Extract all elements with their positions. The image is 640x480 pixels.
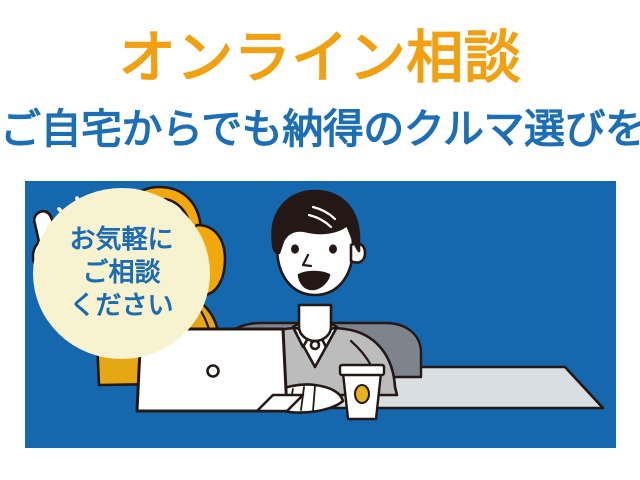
man-neck: [299, 305, 331, 341]
bubble-line-2: ご相談: [82, 257, 160, 290]
illustration-panel: お気軽に ご相談 ください: [25, 181, 616, 448]
man-eye-left: [291, 244, 299, 253]
laptop-camera-dot: [208, 366, 219, 377]
page-subtitle: ご自宅からでも納得のクルマ選びを: [0, 102, 640, 156]
bubble-line-3: ください: [69, 290, 173, 323]
page-title: オンライン相談: [0, 22, 640, 94]
bubble-line-1: お気軽に: [69, 224, 173, 257]
man-eye-right: [329, 244, 337, 253]
coffee-cup-logo: [355, 385, 369, 403]
banner-root: オンライン相談 ご自宅からでも納得のクルマ選びを: [0, 0, 640, 480]
speech-bubble: お気軽に ご相談 ください: [33, 188, 210, 359]
coffee-cup-lid: [340, 365, 384, 375]
